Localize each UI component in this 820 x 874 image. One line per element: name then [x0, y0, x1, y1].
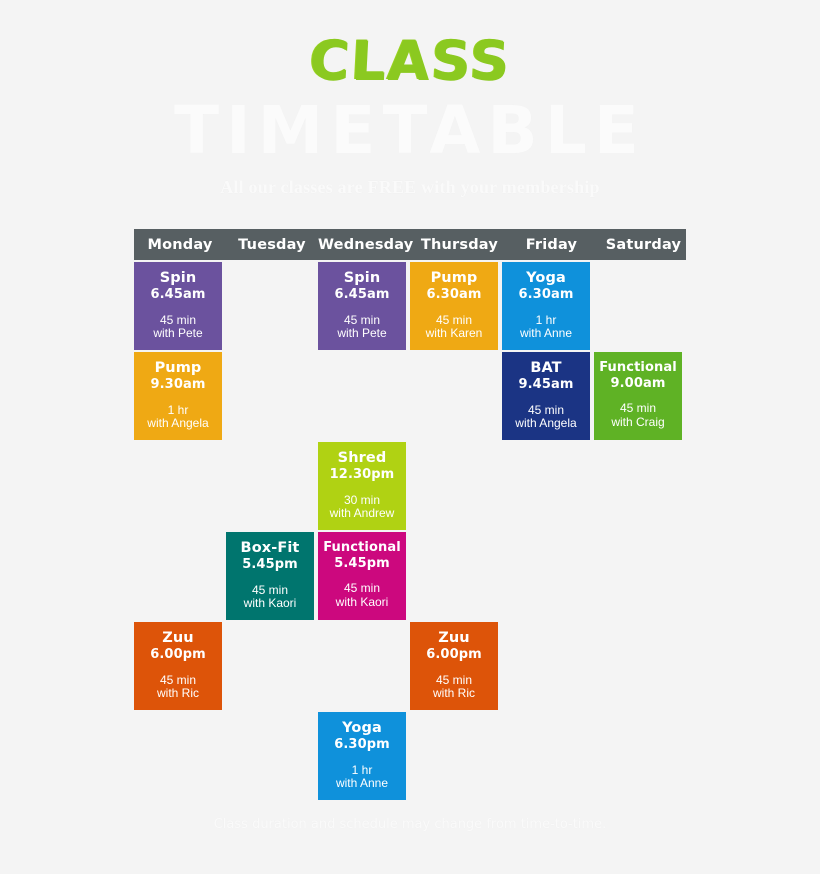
empty-slot [410, 712, 502, 800]
class-instructor: with Angela [502, 417, 590, 430]
class-slot: Zuu6.00pm45 minwith Ric [410, 622, 502, 710]
empty-slot [134, 712, 226, 800]
class-time: 6.45am [134, 288, 222, 302]
empty-slot [594, 712, 686, 800]
class-slot: Pump9.30am1 hrwith Angela [134, 352, 226, 440]
class-card-pump[interactable]: Pump6.30am45 minwith Karen [410, 262, 498, 350]
class-card-box-fit[interactable]: Box-Fit5.45pm45 minwith Kaori [226, 532, 314, 620]
class-slot: BAT9.45am45 minwith Angela [502, 352, 594, 440]
class-time: 6.00pm [134, 648, 222, 662]
class-instructor: with Anne [318, 777, 406, 790]
class-time: 6.30am [410, 288, 498, 302]
timetable-row: Zuu6.00pm45 minwith RicZuu6.00pm45 minwi… [134, 622, 686, 710]
class-slot: Pump6.30am45 minwith Karen [410, 262, 502, 350]
class-instructor: with Karen [410, 327, 498, 340]
class-time: 5.45pm [318, 557, 406, 571]
class-instructor: with Pete [318, 327, 406, 340]
class-instructor: with Pete [134, 327, 222, 340]
class-slot: Zuu6.00pm45 minwith Ric [134, 622, 226, 710]
class-instructor: with Ric [410, 687, 498, 700]
class-slot: Yoga6.30am1 hrwith Anne [502, 262, 594, 350]
empty-slot [318, 352, 410, 440]
empty-slot [502, 622, 594, 710]
class-duration: 45 min [594, 402, 682, 415]
class-instructor: with Angela [134, 417, 222, 430]
class-name: Zuu [134, 631, 222, 646]
empty-slot [594, 532, 686, 620]
day-header-saturday: Saturday [597, 237, 689, 253]
class-time: 9.30am [134, 378, 222, 392]
class-card-pump[interactable]: Pump9.30am1 hrwith Angela [134, 352, 222, 440]
class-duration: 45 min [134, 674, 222, 687]
class-card-spin[interactable]: Spin6.45am45 minwith Pete [318, 262, 406, 350]
page-title-timetable: TIMETABLE [0, 96, 820, 165]
timetable: MondayTuesdayWednesdayThursdayFridaySatu… [134, 229, 686, 802]
class-duration: 45 min [318, 314, 406, 327]
class-card-yoga[interactable]: Yoga6.30pm1 hrwith Anne [318, 712, 406, 800]
class-time: 6.00pm [410, 648, 498, 662]
timetable-row: Yoga6.30pm1 hrwith Anne [134, 712, 686, 800]
class-duration: 45 min [318, 582, 406, 595]
class-card-zuu[interactable]: Zuu6.00pm45 minwith Ric [410, 622, 498, 710]
class-slot: Yoga6.30pm1 hrwith Anne [318, 712, 410, 800]
class-name: Zuu [410, 631, 498, 646]
class-card-shred[interactable]: Shred12.30pm30 minwith Andrew [318, 442, 406, 530]
class-card-yoga[interactable]: Yoga6.30am1 hrwith Anne [502, 262, 590, 350]
page-subtitle: All our classes are FREE with your membe… [0, 177, 820, 198]
empty-slot [594, 622, 686, 710]
empty-slot [226, 712, 318, 800]
page-title-class: CLASS [0, 34, 820, 88]
day-header-row: MondayTuesdayWednesdayThursdayFridaySatu… [134, 229, 686, 260]
day-header-wednesday: Wednesday [318, 237, 413, 253]
class-card-functional[interactable]: Functional9.00am45 minwith Craig [594, 352, 682, 440]
day-header-friday: Friday [505, 237, 597, 253]
empty-slot [410, 532, 502, 620]
class-name: Pump [410, 271, 498, 286]
class-name: Spin [134, 271, 222, 286]
empty-slot [134, 532, 226, 620]
class-name: Yoga [318, 721, 406, 736]
class-instructor: with Kaori [318, 596, 406, 609]
class-name: Pump [134, 361, 222, 376]
class-time: 5.45pm [226, 558, 314, 572]
class-instructor: with Kaori [226, 597, 314, 610]
class-card-zuu[interactable]: Zuu6.00pm45 minwith Ric [134, 622, 222, 710]
empty-slot [502, 442, 594, 530]
page-header: CLASS TIMETABLE All our classes are FREE… [0, 0, 820, 198]
empty-slot [134, 442, 226, 530]
class-time: 12.30pm [318, 468, 406, 482]
class-name: Functional [594, 361, 682, 375]
class-duration: 45 min [410, 674, 498, 687]
class-slot: Spin6.45am45 minwith Pete [318, 262, 410, 350]
empty-slot [226, 262, 318, 350]
class-card-spin[interactable]: Spin6.45am45 minwith Pete [134, 262, 222, 350]
class-duration: 30 min [318, 494, 406, 507]
class-name: Functional [318, 541, 406, 555]
empty-slot [502, 712, 594, 800]
empty-slot [502, 532, 594, 620]
empty-slot [410, 352, 502, 440]
timetable-row: Pump9.30am1 hrwith AngelaBAT9.45am45 min… [134, 352, 686, 440]
day-header-tuesday: Tuesday [226, 237, 318, 253]
class-instructor: with Anne [502, 327, 590, 340]
class-slot: Box-Fit5.45pm45 minwith Kaori [226, 532, 318, 620]
class-instructor: with Craig [594, 416, 682, 429]
class-time: 9.45am [502, 378, 590, 392]
class-time: 6.30pm [318, 738, 406, 752]
empty-slot [226, 442, 318, 530]
timetable-row: Box-Fit5.45pm45 minwith KaoriFunctional5… [134, 532, 686, 620]
class-time: 9.00am [594, 377, 682, 391]
class-duration: 1 hr [134, 404, 222, 417]
empty-slot [594, 442, 686, 530]
empty-slot [410, 442, 502, 530]
class-slot: Functional9.00am45 minwith Craig [594, 352, 686, 440]
class-name: Box-Fit [226, 541, 314, 556]
class-duration: 1 hr [502, 314, 590, 327]
class-name: Yoga [502, 271, 590, 286]
empty-slot [318, 622, 410, 710]
class-time: 6.30am [502, 288, 590, 302]
class-name: Shred [318, 451, 406, 466]
timetable-row: Shred12.30pm30 minwith Andrew [134, 442, 686, 530]
class-duration: 1 hr [318, 764, 406, 777]
class-card-bat[interactable]: BAT9.45am45 minwith Angela [502, 352, 590, 440]
class-time: 6.45am [318, 288, 406, 302]
class-duration: 45 min [134, 314, 222, 327]
class-slot: Shred12.30pm30 minwith Andrew [318, 442, 410, 530]
class-card-functional[interactable]: Functional5.45pm45 minwith Kaori [318, 532, 406, 620]
class-duration: 45 min [502, 404, 590, 417]
empty-slot [594, 262, 686, 350]
empty-slot [226, 352, 318, 440]
day-header-thursday: Thursday [413, 237, 505, 253]
timetable-rows: Spin6.45am45 minwith PeteSpin6.45am45 mi… [134, 262, 686, 800]
class-instructor: with Ric [134, 687, 222, 700]
class-slot: Functional5.45pm45 minwith Kaori [318, 532, 410, 620]
class-duration: 45 min [226, 584, 314, 597]
class-name: BAT [502, 361, 590, 376]
class-name: Spin [318, 271, 406, 286]
timetable-row: Spin6.45am45 minwith PeteSpin6.45am45 mi… [134, 262, 686, 350]
class-duration: 45 min [410, 314, 498, 327]
class-slot: Spin6.45am45 minwith Pete [134, 262, 226, 350]
footnote: Class duration and schedule may change f… [0, 817, 820, 832]
class-instructor: with Andrew [318, 507, 406, 520]
empty-slot [226, 622, 318, 710]
day-header-monday: Monday [134, 237, 226, 253]
